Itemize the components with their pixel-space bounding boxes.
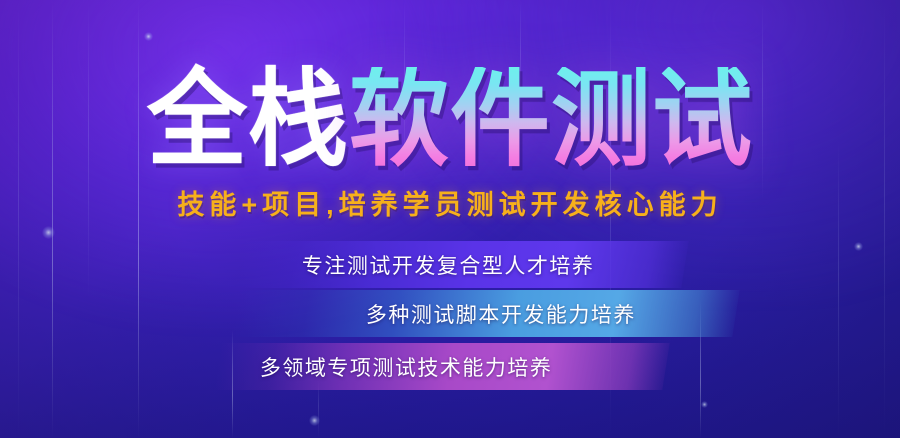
- feature-bar-2-label: 多种测试脚本开发能力培养: [366, 299, 636, 329]
- feature-bar-3[interactable]: 多领域专项测试技术能力培养: [214, 343, 669, 390]
- feature-bar-list: 专注测试开发复合型人才培养 多种测试脚本开发能力培养 多领域专项测试技术能力培养: [0, 0, 900, 438]
- feature-bar-2[interactable]: 多种测试脚本开发能力培养: [232, 290, 739, 337]
- promo-banner: 全栈软件测试 技能+项目,培养学员测试开发核心能力 专注测试开发复合型人才培养 …: [0, 0, 900, 438]
- feature-bar-1-label: 专注测试开发复合型人才培养: [302, 250, 595, 280]
- feature-bar-1[interactable]: 专注测试开发复合型人才培养: [236, 241, 688, 288]
- feature-bar-3-label: 多领域专项测试技术能力培养: [260, 352, 553, 382]
